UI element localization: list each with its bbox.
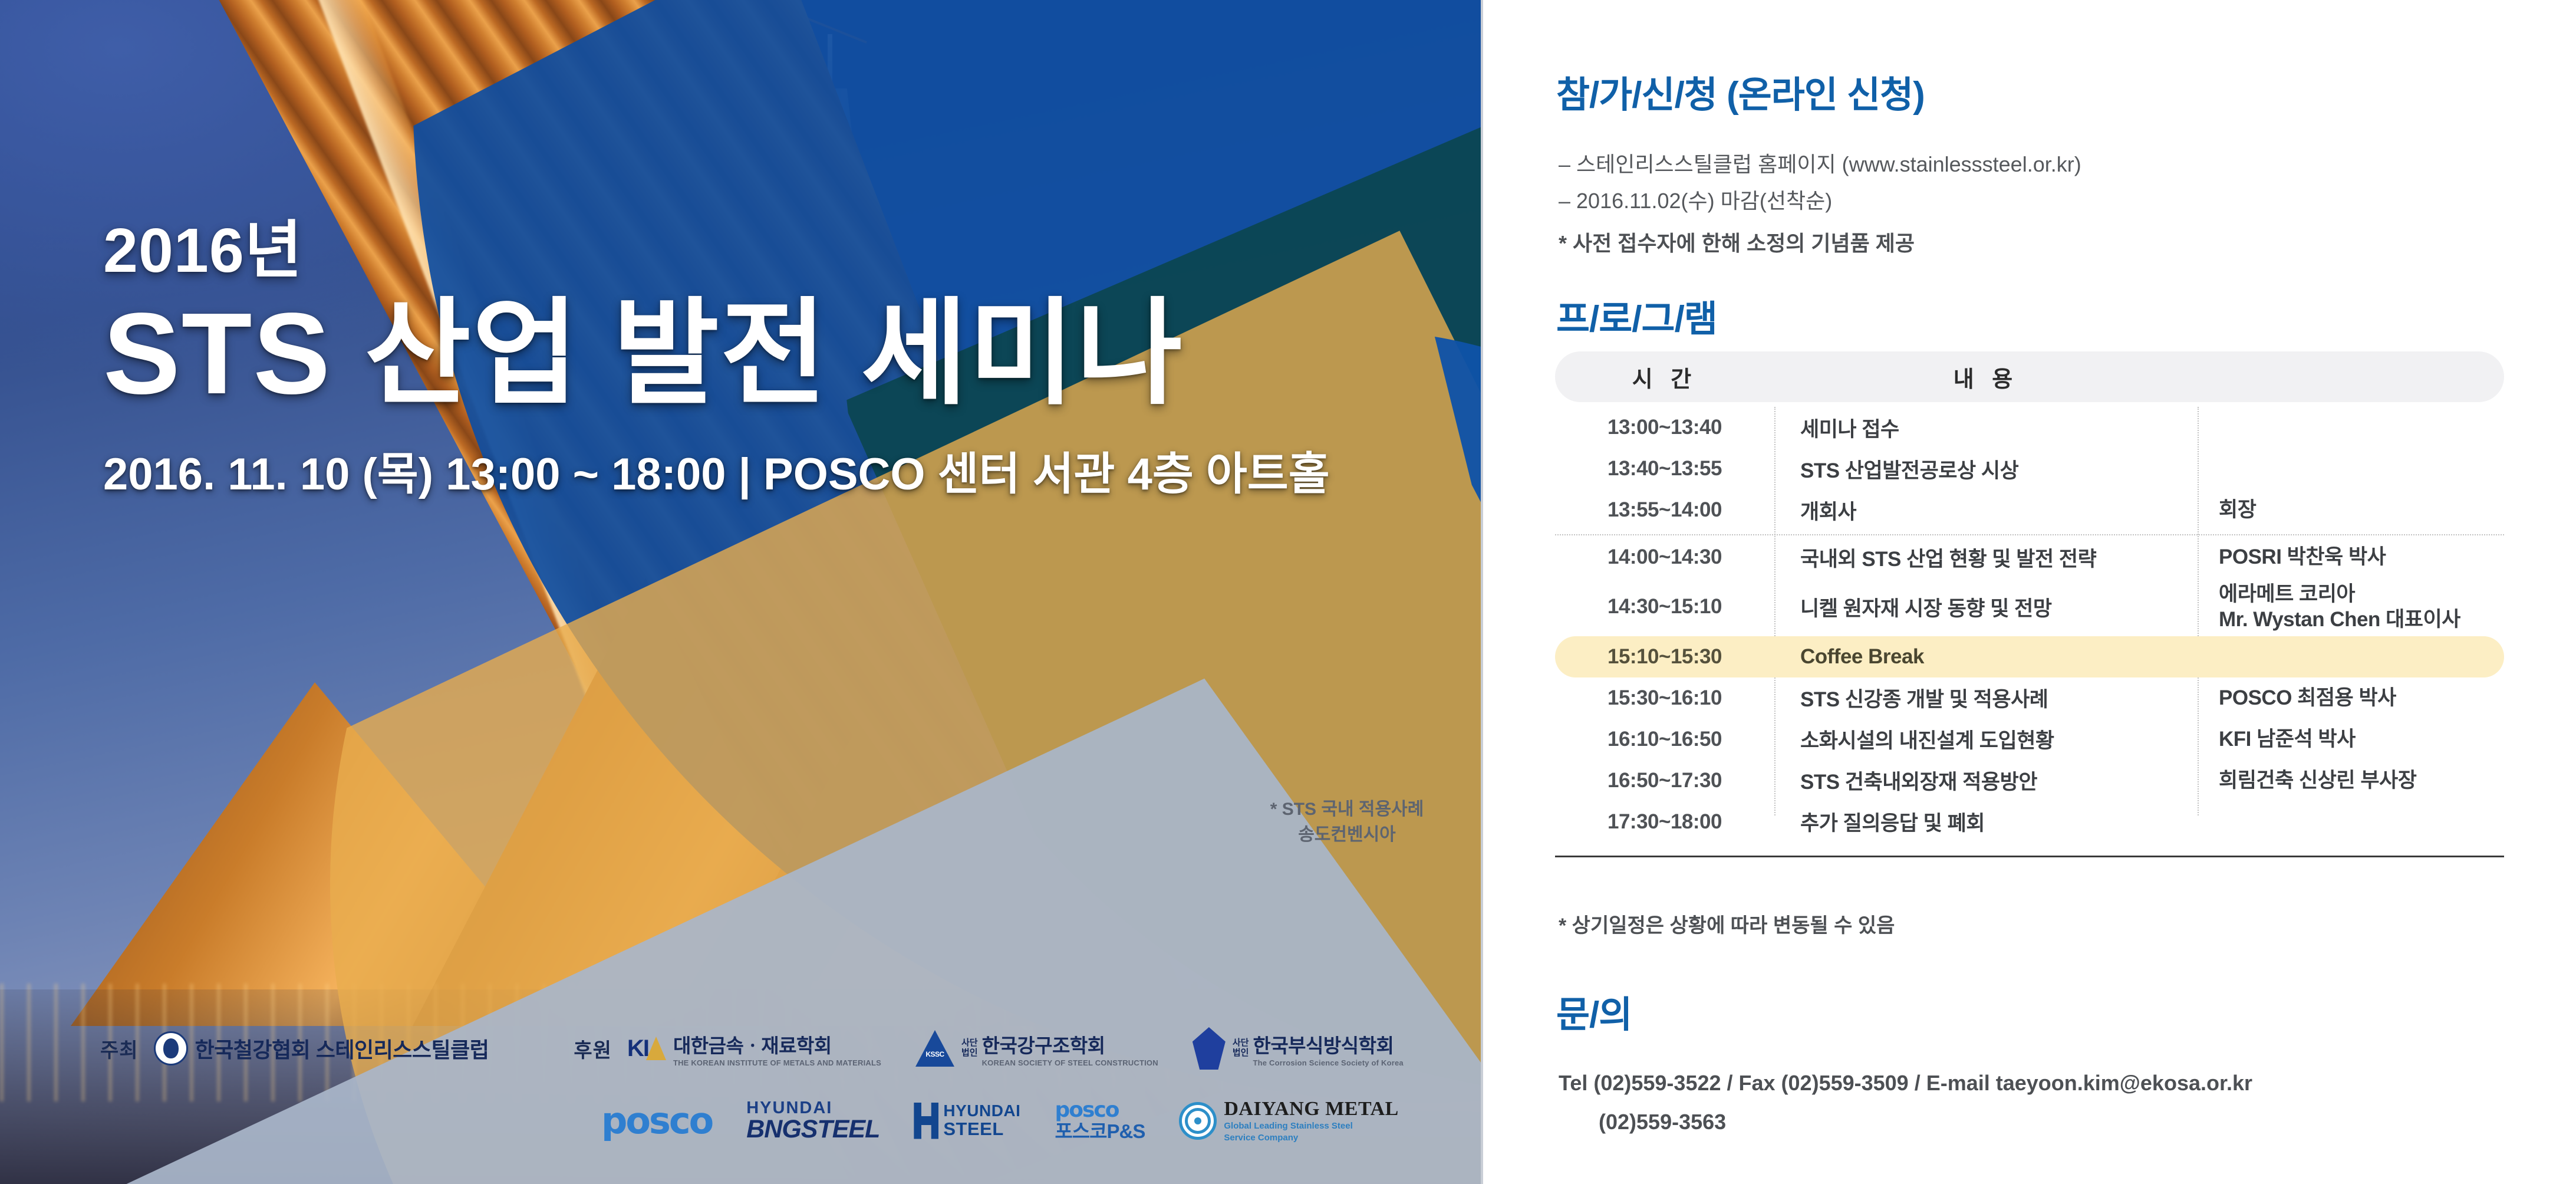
program-table: 시 간 내 용 13:00~13:40 세미나 접수 13:40~13:55 S… (1555, 351, 2504, 857)
row-speaker: 회장 (2198, 497, 2504, 522)
row-speaker: POSCO 최점용 박사 (2198, 685, 2504, 711)
row-speaker: 희림건축 신상린 부사장 (2198, 768, 2504, 793)
table-row: 13:40~13:55 STS 산업발전공로상 시상 (1555, 448, 2504, 489)
table-row: 14:00~14:30 국내외 STS 산업 현황 및 발전 전략 POSRI … (1555, 537, 2504, 578)
logo-kssc: 사단 법인 한국강구조학회 KOREAN SOCIETY OF STEEL CO… (915, 1030, 1158, 1067)
hyundai-steel-icon (914, 1103, 938, 1139)
supporter-2-prefix: 사단 법인 (961, 1038, 978, 1058)
program-footnote: * 상기일정은 상황에 따라 변동될 수 있음 (1559, 909, 1895, 938)
host-label: 주최 (100, 1034, 139, 1063)
logo-daiyang-metal: DAIYANG METAL Global Leading Stainless S… (1179, 1098, 1398, 1143)
posco-pns-icon: posco 포스코P&S (1055, 1099, 1145, 1142)
table-row: 15:30~16:10 STS 신강종 개발 및 적용사례 POSCO 최점용 … (1555, 677, 2504, 719)
sponsor-strip-row-1: 주최 한국철강협회 스테인리스스틸클럽 후원 KI 대한금속ㆍ재료학회 THE … (100, 1027, 1404, 1070)
table-header-row: 시 간 내 용 (1555, 351, 2504, 402)
row-time: 13:00~13:40 (1555, 416, 1774, 439)
logo-hyundai-bng-steel: HYUNDAI BNGSTEEL (746, 1100, 879, 1142)
row-time: 15:10~15:30 (1555, 645, 1774, 669)
photo-credit-line-2: 송도컨벤시아 (1229, 823, 1465, 848)
steel-seal-icon (154, 1031, 188, 1065)
row-content: 추가 질의응답 및 폐회 (1774, 807, 2198, 837)
table-row: 17:30~18:00 추가 질의응답 및 폐회 (1555, 801, 2504, 843)
logo-kim: KI 대한금속ㆍ재료학회 THE KOREAN INSTITUTE OF MET… (627, 1030, 881, 1067)
supporter-3-name: 한국부식방식학회 (1253, 1030, 1403, 1058)
daiyang-name: DAIYANG METAL (1224, 1098, 1398, 1120)
hero-datetime-venue: 2016. 11. 10 (목) 13:00 ~ 18:00 | POSCO 센… (103, 438, 1371, 502)
logo-hyundai-steel: HYUNDAI STEEL (914, 1103, 1020, 1139)
hero-year: 2016년 (103, 219, 1371, 282)
supporter-3-sub: The Corrosion Science Society of Korea (1253, 1058, 1403, 1067)
table-row: 16:50~17:30 STS 건축내외장재 적용방안 희림건축 신상린 부사장 (1555, 760, 2504, 801)
row-time: 14:30~15:10 (1555, 595, 1774, 619)
row-time: 14:00~14:30 (1555, 545, 1774, 569)
application-line-1: – 스테인리스스틸클럽 홈페이지 (www.stainlesssteel.or.… (1559, 147, 2081, 178)
photo-credit-caption: * STS 국내 적용사례 송도컨벤시아 (1229, 797, 1465, 847)
pns-bottom-text: 포스코P&S (1055, 1121, 1145, 1142)
column-header-content: 내 용 (1774, 361, 2198, 393)
row-time: 13:40~13:55 (1555, 457, 1774, 481)
logo-corrosion-science-society: 사단 법인 한국부식방식학회 The Corrosion Science Soc… (1193, 1027, 1404, 1070)
supporter-2-name: 한국강구조학회 (982, 1030, 1158, 1058)
kssc-triangle-icon (915, 1030, 954, 1067)
row-time: 17:30~18:00 (1555, 810, 1774, 834)
row-content: STS 건축내외장재 적용방안 (1774, 765, 2198, 795)
table-body: 13:00~13:40 세미나 접수 13:40~13:55 STS 산업발전공… (1555, 407, 2504, 843)
contact-line-2: (02)559-3563 (1599, 1110, 1726, 1134)
corrosion-diamond-icon (1193, 1027, 1226, 1070)
row-content: 소화시설의 내진설계 도입현황 (1774, 724, 2198, 754)
hero-visual-panel: 2016년 STS 산업 발전 세미나 2016. 11. 10 (목) 13:… (0, 0, 1481, 1184)
row-speaker: POSRI 박찬욱 박사 (2198, 544, 2504, 570)
kim-logo-icon: KI (627, 1035, 666, 1062)
row-speaker: KFI 남준석 박사 (2198, 726, 2504, 752)
supporter-1-name: 대한금속ㆍ재료학회 (673, 1030, 881, 1058)
row-time: 15:30~16:10 (1555, 686, 1774, 710)
column-header-time: 시 간 (1555, 361, 1774, 393)
hero-title-block: 2016년 STS 산업 발전 세미나 2016. 11. 10 (목) 13:… (103, 219, 1371, 502)
table-row: 13:55~14:00 개회사 회장 (1555, 489, 2504, 531)
table-section-separator (1555, 534, 2504, 535)
table-row: 16:10~16:50 소화시설의 내진설계 도입현황 KFI 남준석 박사 (1555, 719, 2504, 760)
daiyang-sub: Global Leading Stainless Steel Service C… (1224, 1120, 1398, 1143)
daiyang-target-icon (1179, 1102, 1217, 1140)
contact-line-1: Tel (02)559-3522 / Fax (02)559-3509 / E-… (1559, 1071, 2252, 1096)
supporter-1-sub: THE KOREAN INSTITUTE OF METALS AND MATER… (673, 1058, 881, 1067)
application-line-2: – 2016.11.02(수) 마감(선착순) (1559, 184, 1832, 215)
logo-posco: posco (601, 1099, 712, 1142)
table-row-coffee-break: 15:10~15:30 Coffee Break (1555, 636, 2504, 677)
application-note: * 사전 접수자에 한해 소정의 기념품 제공 (1559, 226, 1915, 257)
row-content: 세미나 접수 (1774, 413, 2198, 443)
program-heading: 프/로/그/램 (1556, 289, 1717, 342)
hyundai-bng-steel-icon: HYUNDAI BNGSTEEL (746, 1100, 879, 1142)
logo-korea-iron-steel-association: 한국철강협회 스테인리스스틸클럽 (154, 1031, 489, 1065)
table-bottom-rule (1555, 856, 2504, 857)
photo-credit-line-1: * STS 국내 적용사례 (1229, 797, 1465, 823)
contact-heading: 문/의 (1556, 985, 1632, 1038)
support-label: 후원 (574, 1034, 612, 1063)
row-content: 니켈 원자재 시장 동향 및 전망 (1774, 592, 2198, 622)
posco-wordmark-icon: posco (601, 1099, 712, 1142)
logo-posco-pns: posco 포스코P&S (1055, 1099, 1145, 1142)
row-time: 16:50~17:30 (1555, 769, 1774, 792)
table-row: 14:30~15:10 니켈 원자재 시장 동향 및 전망 에라메트 코리아 M… (1555, 578, 2504, 636)
row-time: 13:55~14:00 (1555, 498, 1774, 522)
pns-top-text: posco (1055, 1099, 1145, 1121)
bng-top-text: HYUNDAI (746, 1100, 879, 1117)
row-content: STS 신강종 개발 및 적용사례 (1774, 683, 2198, 713)
bng-bottom-text: BNGSTEEL (746, 1117, 879, 1142)
supporter-2-sub: KOREAN SOCIETY OF STEEL CONSTRUCTION (982, 1058, 1158, 1067)
table-row: 13:00~13:40 세미나 접수 (1555, 407, 2504, 448)
row-content: 개회사 (1774, 495, 2198, 525)
seminar-poster: 2016년 STS 산업 발전 세미나 2016. 11. 10 (목) 13:… (0, 0, 2576, 1184)
host-org-name: 한국철강협회 스테인리스스틸클럽 (195, 1033, 489, 1064)
page-title: STS 산업 발전 세미나 (103, 292, 1371, 415)
row-content: 국내외 STS 산업 현황 및 발전 전략 (1774, 542, 2198, 573)
hsteel-bottom-text: STEEL (943, 1120, 1020, 1139)
supporter-3-prefix: 사단 법인 (1233, 1038, 1249, 1058)
row-speaker: 에라메트 코리아 Mr. Wystan Chen 대표이사 (2198, 581, 2504, 633)
hsteel-top-text: HYUNDAI (943, 1103, 1020, 1120)
row-time: 16:10~16:50 (1555, 728, 1774, 751)
row-content: STS 산업발전공로상 시상 (1774, 454, 2198, 484)
sponsor-strip-row-2: posco HYUNDAI BNGSTEEL HYUNDAI STEEL pos… (601, 1098, 1399, 1143)
info-panel: 참/가/신/청 (온라인 신청) – 스테인리스스틸클럽 홈페이지 (www.s… (1483, 0, 2576, 1184)
row-content: Coffee Break (1774, 645, 2198, 669)
application-heading: 참/가/신/청 (온라인 신청) (1556, 65, 1925, 118)
